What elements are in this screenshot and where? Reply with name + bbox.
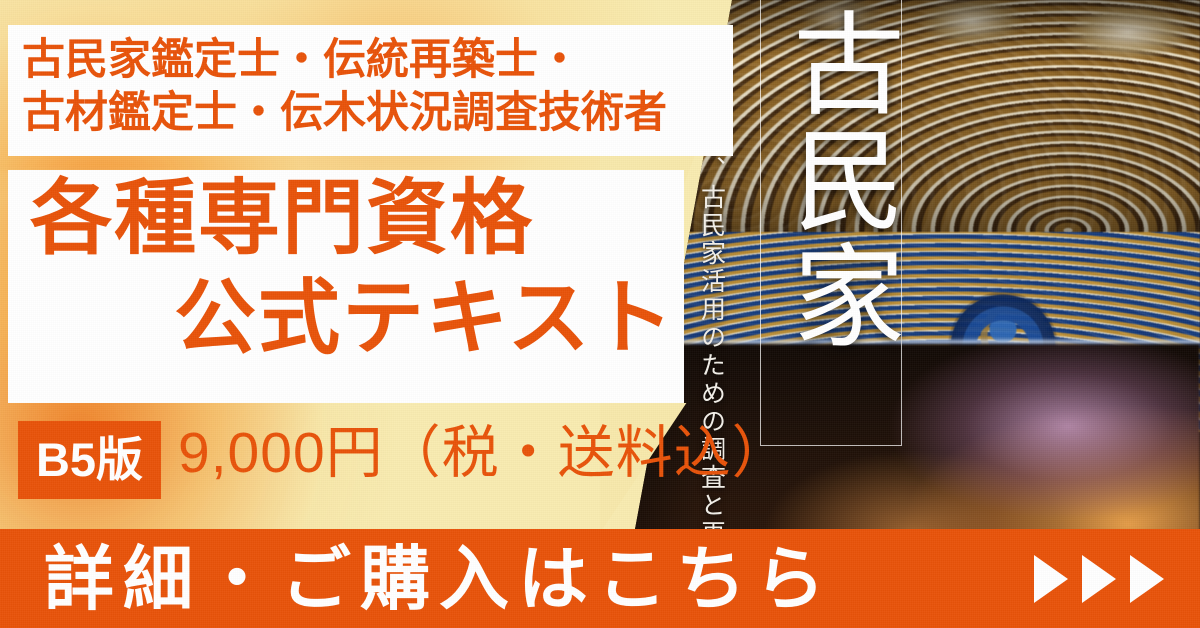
cta-arrow-group <box>1034 555 1164 603</box>
headline-line-2: 公式テキスト <box>174 276 676 363</box>
chevron-right-icon <box>1130 555 1164 603</box>
qualifications-text: 古民家鑑定士・伝統再築士・ 古材鑑定士・伝木状況調査技術者 <box>22 34 667 140</box>
qualifications-line-1: 古民家鑑定士・伝統再築士・ <box>22 34 667 87</box>
format-badge: B5版 <box>18 421 161 499</box>
chevron-right-icon <box>1034 555 1068 603</box>
headline-line-1: 各種専門資格 <box>30 176 534 263</box>
cta-label: 詳細・ご購入はこちら <box>44 544 834 614</box>
cover-title-text: 古民家 <box>758 6 904 354</box>
format-badge-label: B5版 <box>36 436 143 483</box>
price-text: 9,000円（税・送料込） <box>178 425 790 482</box>
chevron-right-icon <box>1082 555 1116 603</box>
qualifications-line-2: 古材鑑定士・伝木状況調査技術者 <box>22 87 667 140</box>
qualifications-panel: 古民家鑑定士・伝統再築士・ 古材鑑定士・伝木状況調査技術者 <box>8 25 733 156</box>
headline-panel: 各種専門資格 公式テキスト <box>8 170 684 403</box>
cta-bar[interactable]: 詳細・ご購入はこちら <box>0 529 1200 628</box>
promo-banner: 古民家 伝統構法、古民家活用のための調査と再生の 古民家鑑定士・伝統再築士・ 古… <box>0 0 1200 628</box>
